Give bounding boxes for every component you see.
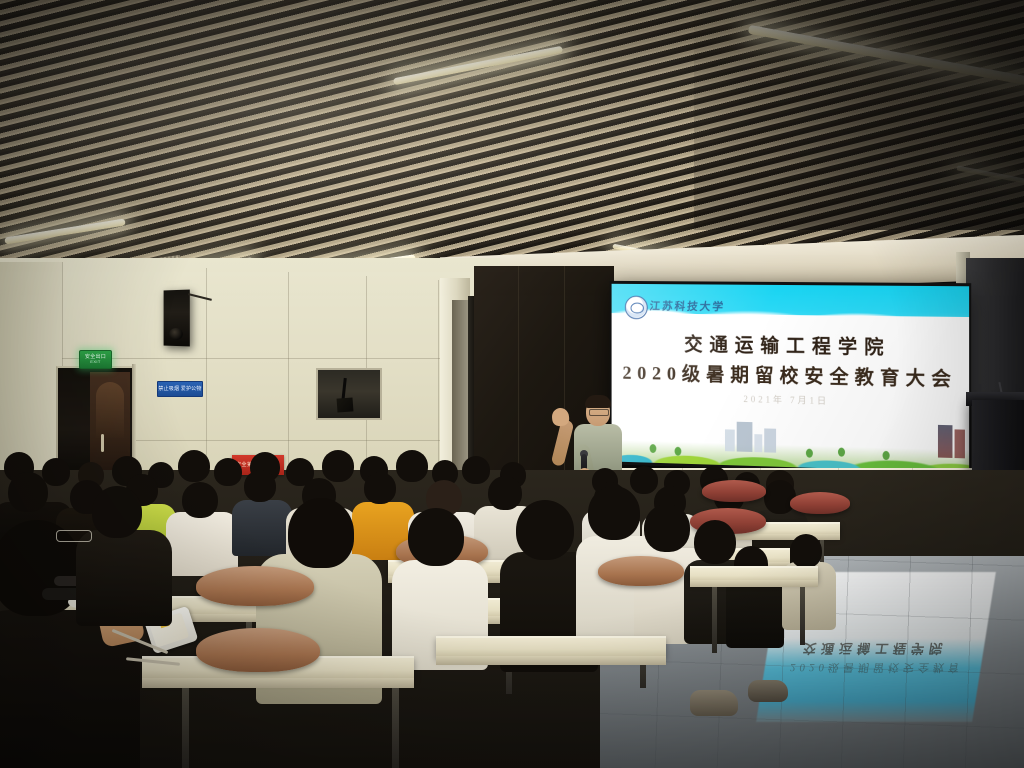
panel-seam	[518, 266, 519, 488]
head	[764, 480, 796, 514]
desk-leg	[800, 587, 805, 645]
wall-seam	[288, 272, 289, 468]
rear-wall-column	[0, 262, 62, 472]
torso	[166, 512, 238, 576]
speaker-cone-icon	[169, 328, 183, 340]
head	[488, 476, 522, 510]
university-seal-logo	[625, 296, 648, 320]
exit-sign: 安全出口 EXIT	[79, 350, 112, 369]
slide-campus-panorama	[612, 417, 970, 473]
chair-back	[196, 566, 314, 606]
glasses-icon	[56, 530, 92, 542]
panorama-tree	[883, 451, 890, 460]
panorama-building	[764, 428, 776, 452]
wall-seam	[438, 280, 439, 466]
head	[214, 458, 242, 486]
head	[408, 508, 464, 566]
head	[694, 520, 736, 564]
head	[288, 498, 354, 568]
panorama-building	[754, 434, 762, 452]
shoe	[690, 690, 738, 716]
presenter-raised-arm	[551, 419, 575, 467]
side-door-opening[interactable]	[452, 300, 468, 472]
wall-speaker	[164, 290, 190, 347]
head	[516, 500, 574, 560]
head	[92, 486, 142, 538]
lecture-hall-photo: 安全出口 EXIT 禁止吸烟 爱护公物 江苏科技大学 交通运输工程学院 2020…	[0, 0, 1024, 768]
panorama-tree	[838, 448, 845, 457]
reflected-slide-title: 交通运输工程学院	[788, 640, 961, 659]
desk-apron	[690, 580, 818, 587]
desk-leg	[712, 587, 717, 653]
head	[182, 482, 218, 518]
panorama-tree	[806, 449, 813, 458]
head	[364, 472, 396, 504]
head	[8, 472, 48, 512]
door-handle[interactable]	[101, 434, 104, 452]
desk-apron	[436, 656, 666, 665]
desk	[436, 636, 666, 658]
door-panel-arch	[96, 382, 124, 438]
head	[322, 450, 354, 482]
wall-placard: 禁止吸烟 爱护公物	[157, 381, 203, 397]
panorama-tree	[650, 444, 657, 453]
head	[42, 458, 70, 486]
desk-leg	[392, 688, 399, 768]
desk-leg	[182, 688, 189, 768]
presenter-hair	[585, 395, 611, 408]
head	[630, 466, 658, 494]
panorama-tree	[675, 447, 682, 456]
head	[396, 450, 428, 482]
presenter-raised-hand	[551, 407, 570, 427]
head	[462, 456, 490, 484]
niche-object	[337, 397, 354, 412]
slide-school-name: 江苏科技大学	[649, 298, 726, 315]
wall-seam	[62, 358, 442, 359]
torso	[232, 500, 292, 556]
wall-niche	[316, 368, 382, 420]
head	[588, 486, 640, 540]
projection-screen: 江苏科技大学 交通运输工程学院 2020级暑期留校安全教育大会 2021年 7月…	[610, 281, 972, 476]
torso	[76, 530, 172, 626]
chair-back	[196, 628, 320, 672]
shoe	[748, 680, 788, 702]
panorama-building	[737, 422, 753, 452]
chair-back	[702, 480, 766, 502]
head	[644, 504, 690, 552]
wall-placard-label: 禁止吸烟 爱护公物	[158, 387, 201, 392]
desk-apron	[142, 678, 414, 688]
chair-back	[790, 492, 850, 514]
exit-sign-label-en: EXIT	[90, 360, 101, 364]
head	[790, 534, 822, 568]
head	[244, 470, 276, 502]
head	[178, 450, 210, 482]
chair-back	[598, 556, 684, 586]
projection-slide: 江苏科技大学 交通运输工程学院 2020级暑期留校安全教育大会 2021年 7月…	[612, 284, 970, 473]
reflected-slide-subtitle: 2020级暑期留校安全教育大会	[789, 660, 962, 676]
panorama-building	[955, 429, 965, 458]
panorama-building	[725, 429, 735, 451]
glasses-icon	[589, 409, 609, 416]
